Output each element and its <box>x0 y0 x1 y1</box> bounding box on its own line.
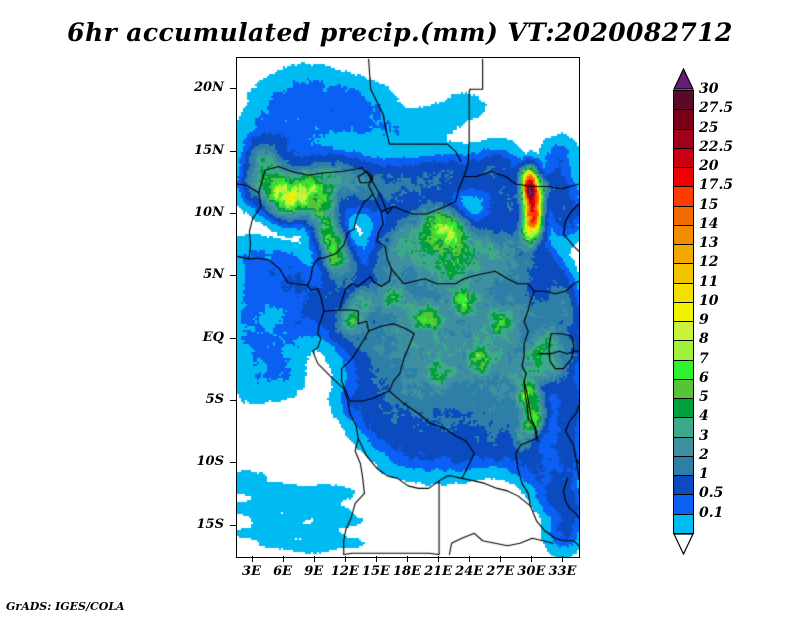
colorbar-segment <box>673 206 694 226</box>
x-axis-tick <box>562 556 563 562</box>
colorbar-tick-label: 14 <box>699 216 718 232</box>
colorbar-segment <box>673 244 694 264</box>
x-axis-label: 33E <box>542 564 582 579</box>
x-axis-tick <box>438 556 439 562</box>
colorbar-tick-label: 5 <box>699 389 709 405</box>
colorbar-segment <box>673 437 694 457</box>
colorbar-tick-label: 22.5 <box>699 139 733 155</box>
colorbar-tick-label: 10 <box>699 293 718 309</box>
colorbar-segment <box>673 340 694 360</box>
colorbar-tick-label: 2 <box>699 447 709 463</box>
map-raster <box>237 58 579 557</box>
y-axis-tick <box>230 88 236 89</box>
colorbar-tick-label: 0.1 <box>699 505 723 521</box>
y-axis-label: 15N <box>180 143 224 158</box>
colorbar-tick-label: 4 <box>699 408 709 424</box>
colorbar-segment <box>673 129 694 149</box>
x-axis-tick <box>252 556 253 562</box>
y-axis-label: 15S <box>180 517 224 532</box>
y-axis-label: 10S <box>180 454 224 469</box>
colorbar-segment <box>673 302 694 322</box>
colorbar-segment <box>673 417 694 437</box>
colorbar-over-arrow <box>673 68 694 90</box>
y-axis-label: 5S <box>180 392 224 407</box>
x-axis-tick <box>345 556 346 562</box>
y-axis-label: 5N <box>180 267 224 282</box>
x-axis-tick <box>500 556 501 562</box>
colorbar-segment <box>673 398 694 418</box>
colorbar-segment <box>673 379 694 399</box>
colorbar-segment <box>673 225 694 245</box>
precipitation-map <box>236 57 580 558</box>
page-title: 6hr accumulated precip.(mm) VT:202008271… <box>0 18 800 47</box>
x-axis-tick <box>314 556 315 562</box>
colorbar-tick-label: 27.5 <box>699 100 733 116</box>
y-axis-tick <box>230 400 236 401</box>
y-axis-tick <box>230 338 236 339</box>
colorbar <box>673 68 694 555</box>
colorbar-segment <box>673 283 694 303</box>
colorbar-tick-label: 0.5 <box>699 485 723 501</box>
colorbar-tick-label: 7 <box>699 351 709 367</box>
colorbar-tick-label: 15 <box>699 197 718 213</box>
colorbar-tick-label: 13 <box>699 235 718 251</box>
colorbar-segment <box>673 321 694 341</box>
colorbar-tick-label: 17.5 <box>699 177 733 193</box>
colorbar-tick-label: 8 <box>699 331 709 347</box>
colorbar-segment <box>673 90 694 110</box>
x-axis-tick <box>283 556 284 562</box>
colorbar-segment <box>673 475 694 495</box>
y-axis-tick <box>230 213 236 214</box>
y-axis-tick <box>230 462 236 463</box>
colorbar-segment <box>673 109 694 129</box>
colorbar-tick-label: 11 <box>699 274 718 290</box>
colorbar-segment <box>673 263 694 283</box>
colorbar-tick-label: 3 <box>699 428 709 444</box>
colorbar-tick-label: 9 <box>699 312 709 328</box>
colorbar-segment <box>673 456 694 476</box>
y-axis-tick <box>230 151 236 152</box>
colorbar-segment <box>673 360 694 380</box>
colorbar-tick-label: 6 <box>699 370 709 386</box>
y-axis-tick <box>230 525 236 526</box>
y-axis-tick <box>230 275 236 276</box>
colorbar-tick-label: 1 <box>699 466 709 482</box>
colorbar-under-arrow <box>673 533 694 555</box>
x-axis-tick <box>407 556 408 562</box>
x-axis-tick <box>469 556 470 562</box>
colorbar-tick-label: 25 <box>699 120 718 136</box>
colorbar-segment <box>673 186 694 206</box>
colorbar-tick-label: 30 <box>699 81 718 97</box>
x-axis-tick <box>531 556 532 562</box>
y-axis-label: 20N <box>180 80 224 95</box>
colorbar-segment <box>673 148 694 168</box>
footer-credit: GrADS: IGES/COLA <box>6 600 125 613</box>
colorbar-tick-label: 12 <box>699 254 718 270</box>
colorbar-segment <box>673 494 694 514</box>
y-axis-label: EQ <box>180 330 224 345</box>
colorbar-segment <box>673 167 694 187</box>
x-axis-tick <box>376 556 377 562</box>
colorbar-tick-label: 20 <box>699 158 718 174</box>
y-axis-label: 10N <box>180 205 224 220</box>
colorbar-segment <box>673 514 694 534</box>
